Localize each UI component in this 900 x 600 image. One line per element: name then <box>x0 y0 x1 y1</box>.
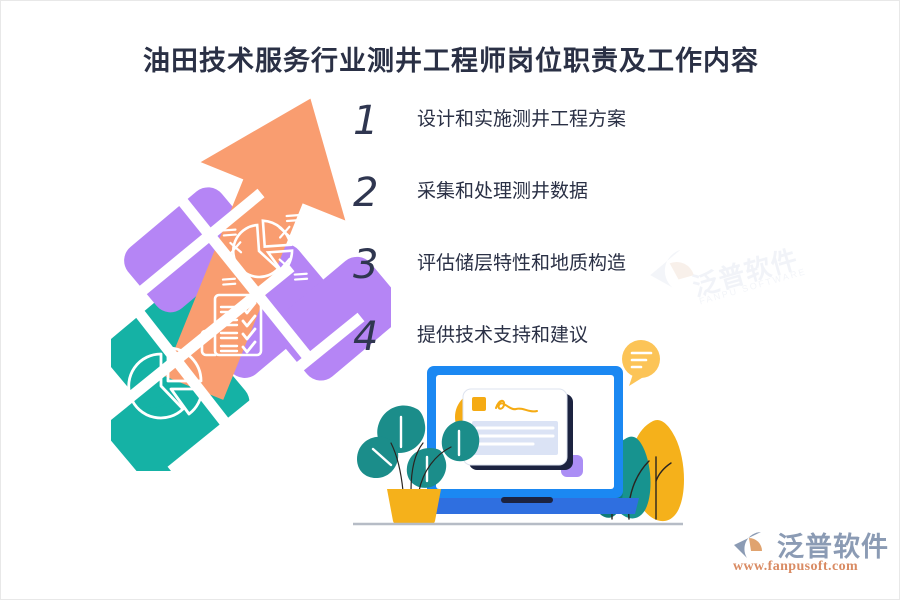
list-item-label: 采集和处理测井数据 <box>417 177 588 207</box>
fanpu-logo-icon <box>731 529 771 561</box>
workspace-illustration <box>353 331 713 561</box>
list-item-number: 3 <box>353 241 407 289</box>
list-item-number: 2 <box>353 169 407 217</box>
infographic-canvas: 油田技术服务行业测井工程师岗位职责及工作内容 <box>0 0 900 600</box>
list-item-label: 设计和实施测井工程方案 <box>417 105 626 135</box>
list-item-number: 1 <box>353 97 407 145</box>
list-item: 2 采集和处理测井数据 <box>353 169 773 241</box>
list-item: 1 设计和实施测井工程方案 <box>353 97 773 169</box>
list-item: 3 评估储层特性和地质构造 <box>353 241 773 313</box>
list-item-label: 评估储层特性和地质构造 <box>417 249 626 279</box>
brand-url: www.fanpusoft.com <box>733 559 858 575</box>
left-graphic-cluster <box>111 71 391 471</box>
brand-logo: 泛普软件 www.fanpusoft.com <box>731 523 881 581</box>
speech-bubble-icon <box>622 340 660 386</box>
